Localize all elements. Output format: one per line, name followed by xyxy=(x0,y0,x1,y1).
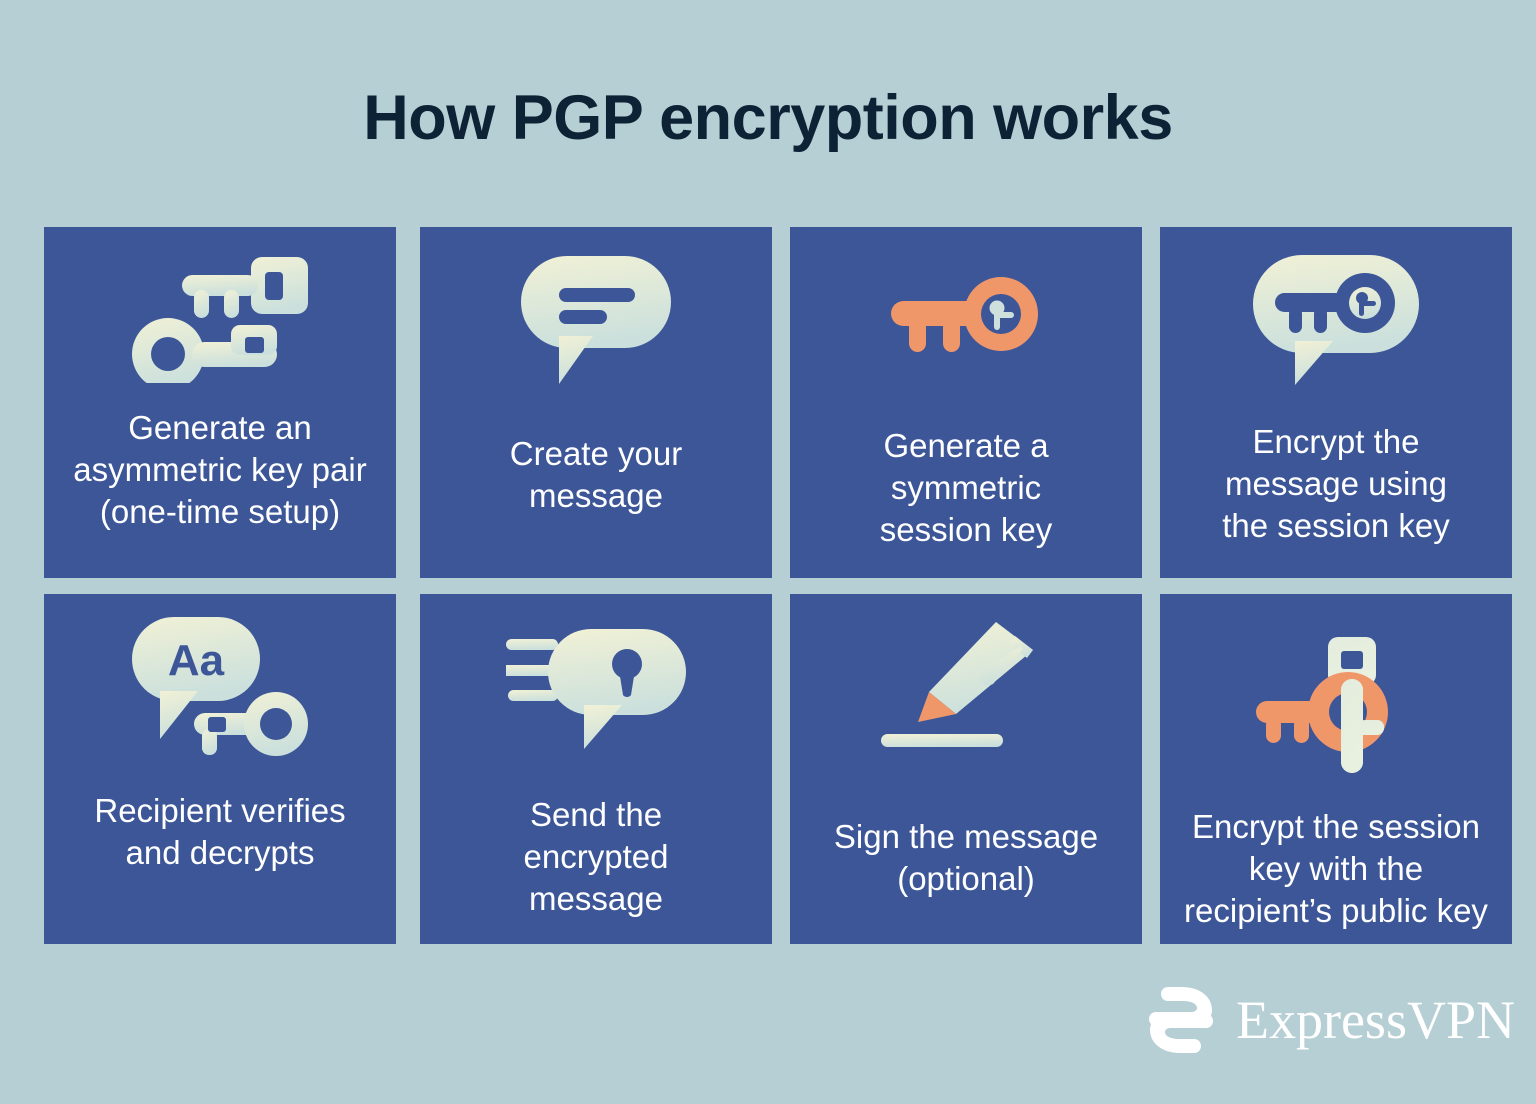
step-card-8[interactable]: Aa Recipient verifies and decrypts xyxy=(44,594,396,944)
step-card-5[interactable]: Encrypt the session key with the recipie… xyxy=(1160,594,1512,944)
page-title: How PGP encryption works xyxy=(0,84,1536,153)
step-card-3-label: Generate a symmetric session key xyxy=(811,425,1121,552)
flow-diagram: Generate an asymmetric key pair (one-tim… xyxy=(44,227,1506,944)
step-card-3[interactable]: Generate a symmetric session key xyxy=(790,227,1142,578)
two-keys-orange-cream-icon xyxy=(1160,594,1512,798)
speech-bubble-aa-key-icon: Aa xyxy=(44,594,396,780)
step-card-6-label: Sign the message (optional) xyxy=(811,816,1121,900)
step-card-1[interactable]: Generate an asymmetric key pair (one-tim… xyxy=(44,227,396,578)
expressvpn-e-logo-icon xyxy=(1148,985,1214,1055)
step-card-1-label: Generate an asymmetric key pair (one-tim… xyxy=(65,407,375,534)
step-card-4[interactable]: Encrypt the message using the session ke… xyxy=(1160,227,1512,578)
orange-key-icon-svg xyxy=(891,277,1041,363)
expressvpn-logo: ExpressVPN xyxy=(1148,985,1515,1055)
speech-bubble-aa-key-icon-svg: Aa xyxy=(132,617,308,757)
expressvpn-wordmark: ExpressVPN xyxy=(1236,993,1515,1047)
step-card-2[interactable]: Create your message xyxy=(420,227,772,578)
orange-key-icon xyxy=(790,227,1142,413)
two-keys-icon-svg xyxy=(132,257,308,383)
step-card-7[interactable]: Send the encrypted message xyxy=(420,594,772,944)
step-card-2-label: Create your message xyxy=(441,433,751,517)
speech-bubble-keyhole-send-icon xyxy=(420,594,772,780)
two-keys-orange-cream-icon-svg xyxy=(1256,637,1416,773)
speech-bubble-key-icon xyxy=(1160,227,1512,413)
pen-signature-icon xyxy=(790,594,1142,780)
step-card-6[interactable]: Sign the message (optional) xyxy=(790,594,1142,944)
step-card-5-label: Encrypt the session key with the recipie… xyxy=(1167,806,1505,933)
speech-bubble-lines-icon-svg xyxy=(521,256,671,384)
speech-bubble-keyhole-send-icon-svg xyxy=(506,625,686,749)
two-keys-icon xyxy=(44,227,396,413)
pen-signature-icon-svg xyxy=(881,622,1051,752)
speech-bubble-lines-icon xyxy=(420,227,772,413)
step-card-7-label: Send the encrypted message xyxy=(441,794,751,921)
step-card-4-label: Encrypt the message using the session ke… xyxy=(1181,421,1491,548)
speech-bubble-key-icon-svg xyxy=(1253,255,1419,385)
svg-text:Aa: Aa xyxy=(168,636,225,685)
step-card-8-label: Recipient verifies and decrypts xyxy=(65,790,375,874)
